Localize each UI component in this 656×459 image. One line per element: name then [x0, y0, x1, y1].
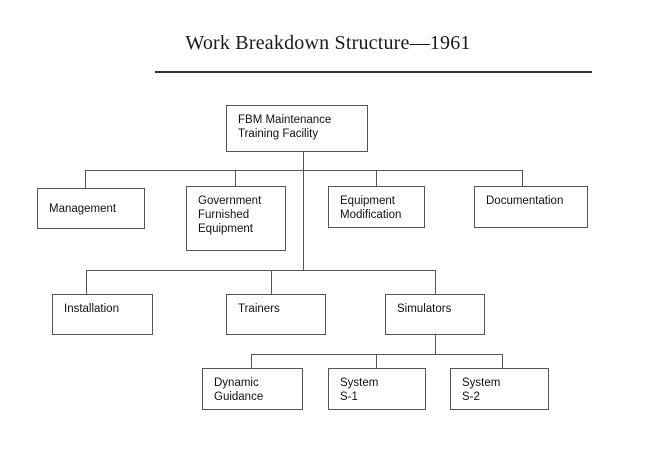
node-installation[interactable]: Installation — [52, 294, 153, 335]
page-title: Work Breakdown Structure—1961 — [0, 32, 656, 55]
connector-level2-drop-equipment-modification — [376, 170, 377, 186]
connector-level3-drop-trainers — [271, 270, 272, 294]
node-trainers[interactable]: Trainers — [226, 294, 326, 335]
node-management[interactable]: Management — [37, 188, 145, 229]
node-dynamic-guidance[interactable]: Dynamic Guidance — [202, 368, 303, 410]
title-divider — [155, 71, 592, 73]
connector-level2-bus — [85, 170, 523, 171]
connector-level3-bus — [86, 270, 436, 271]
connector-level4-bus — [251, 354, 503, 355]
node-equipment-modification[interactable]: Equipment Modification — [328, 186, 425, 228]
connector-level4-drop-system-s1 — [376, 354, 377, 368]
node-system-s2[interactable]: System S-2 — [450, 368, 549, 410]
slide-canvas: Work Breakdown Structure—1961 FBM Mainte… — [0, 0, 656, 459]
node-government-furnished-equipment[interactable]: Government Furnished Equipment — [186, 186, 286, 251]
node-system-s1[interactable]: System S-1 — [328, 368, 426, 410]
node-simulators[interactable]: Simulators — [385, 294, 485, 335]
connector-level3-drop-simulators — [435, 270, 436, 294]
connector-simulators-trunk — [435, 334, 436, 355]
connector-level3-drop-installation — [86, 270, 87, 294]
connector-level2-drop-documentation — [522, 170, 523, 186]
connector-level4-drop-system-s2 — [502, 354, 503, 368]
connector-level2-drop-government — [235, 170, 236, 186]
connector-level4-drop-dynamic-guidance — [251, 354, 252, 368]
node-fbm-maintenance-training-facility[interactable]: FBM Maintenance Training Facility — [226, 105, 368, 152]
connector-level2-drop-management — [85, 170, 86, 188]
node-documentation[interactable]: Documentation — [474, 186, 588, 228]
